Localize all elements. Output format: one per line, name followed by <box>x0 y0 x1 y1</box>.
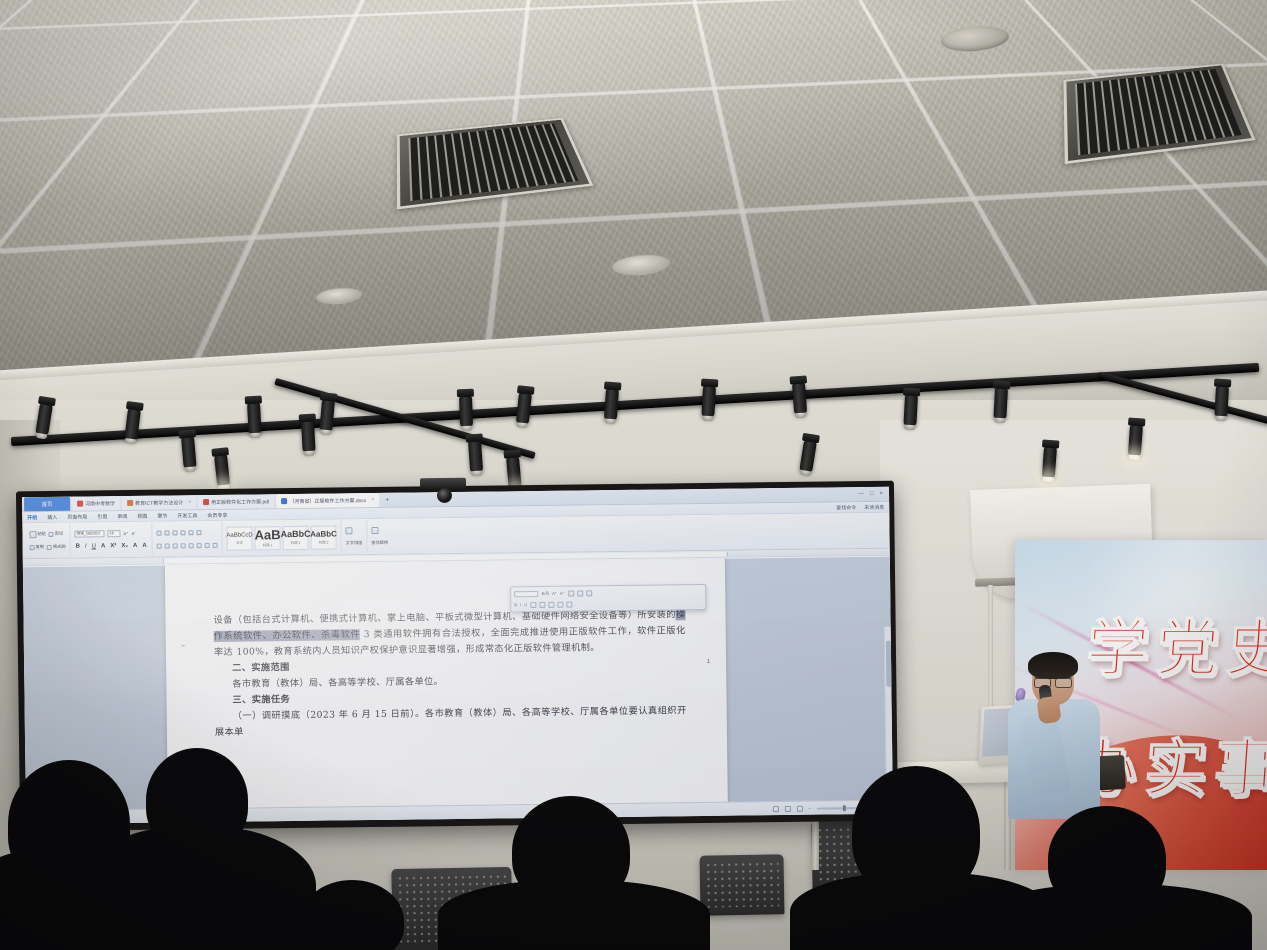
ribbon-group-styles: AaBbCcD 正文 AaB 标题 1 AaBbC 标题 2 AaBbC <box>222 520 341 554</box>
align-right-icon[interactable] <box>173 543 178 548</box>
zoom-slider-knob[interactable] <box>843 805 846 811</box>
ribbon-group-clipboard: 粘贴 剪切 复制 <box>25 524 70 558</box>
strikethrough-button[interactable]: A <box>100 543 106 549</box>
scrollbar-thumb[interactable] <box>886 641 892 687</box>
style-name: 标题 3 <box>319 539 329 544</box>
ppt-icon <box>127 500 133 506</box>
unread-messages-label[interactable]: 未读消息 <box>864 503 884 510</box>
banner-line-1: 学党史 <box>1084 598 1267 688</box>
page-number-mark: 1 <box>707 659 710 665</box>
ribbon-tab-view[interactable]: 视图 <box>137 512 147 519</box>
line-spacing-icon[interactable] <box>197 543 202 548</box>
text-segment: 设备（包括台式计算机、便携式计算机、掌上电脑、平板式微型计算机、基础硬件网络安全… <box>213 609 676 626</box>
document-tab-2[interactable]: 教育ICT教学方法设计 × <box>122 495 196 510</box>
presenter-hand <box>1036 696 1061 725</box>
minimize-icon[interactable]: — <box>858 491 864 497</box>
mini-font-size[interactable]: 五号 <box>541 590 549 596</box>
document-text-body[interactable]: 设备（包括台式计算机、便携式计算机、掌上电脑、平板式微型计算机、基础硬件网络安全… <box>213 607 687 741</box>
spotlight-icon <box>468 441 483 474</box>
spotlight-icon <box>1128 425 1143 458</box>
doc-icon <box>281 498 287 504</box>
ribbon-tab-section[interactable]: 章节 <box>157 512 167 519</box>
style-preview: AaBbCcD <box>226 532 252 538</box>
align-justify-icon[interactable] <box>181 543 186 548</box>
spotlight-icon <box>604 389 619 422</box>
copy-label: 复制 <box>36 544 44 550</box>
pdf-icon <box>77 501 83 507</box>
margin-mark-left: ⌐ <box>182 643 186 649</box>
conference-room-photo: 学党史 办实事 <box>0 0 1267 950</box>
spotlight-icon <box>459 396 473 428</box>
close-icon[interactable]: × <box>188 499 191 505</box>
spotlight-icon <box>319 399 335 432</box>
style-name: 标题 1 <box>263 542 273 547</box>
bullets-icon[interactable] <box>156 530 161 535</box>
mini-numbering-icon[interactable] <box>586 590 592 596</box>
maximize-icon[interactable]: □ <box>870 491 874 497</box>
increase-indent-icon[interactable] <box>180 530 185 535</box>
ribbon-tab-member[interactable]: 会员专享 <box>207 511 227 518</box>
zoom-out-button[interactable]: − <box>808 806 811 811</box>
tab-label: （河南省）正版软件工作方案.docx <box>289 497 366 505</box>
document-tab-3[interactable]: 用正版软件化工作方案.pdf <box>198 494 275 509</box>
spotlight-icon <box>903 395 918 428</box>
copy-button[interactable]: 复制 <box>30 544 44 550</box>
copy-icon <box>30 545 35 550</box>
cut-button[interactable]: 剪切 <box>49 531 63 537</box>
audience-member-body <box>980 884 1252 950</box>
document-paragraph-1: 设备（包括台式计算机、便携式计算机、掌上电脑、平板式微型计算机、基础硬件网络安全… <box>213 607 686 661</box>
search-command-input[interactable]: 查找命令 <box>836 504 856 511</box>
italic-button[interactable]: I <box>84 544 88 550</box>
cut-label: 剪切 <box>55 531 63 537</box>
spotlight-icon <box>181 436 197 469</box>
underline-button[interactable]: U <box>91 543 97 549</box>
mini-bold-button[interactable]: B <box>514 602 517 607</box>
mini-grow-font[interactable]: A⁺ <box>552 591 557 596</box>
mini-italic-button[interactable]: I <box>520 602 521 607</box>
format-painter-button[interactable]: 格式刷 <box>47 544 66 550</box>
format-painter-icon <box>47 544 52 549</box>
ribbon-tab-page-layout[interactable]: 页面布局 <box>67 513 87 520</box>
align-left-icon[interactable] <box>157 543 162 548</box>
document-page[interactable]: ⌐ 1 设备（包括台式计算机、便携式计算机、掌上电脑、平板式微型计算机、基础硬件… <box>165 557 729 811</box>
superscript-button[interactable]: X² <box>109 543 117 549</box>
find-replace-button[interactable]: 查找替换 <box>371 540 388 546</box>
spotlight-icon <box>1042 447 1057 480</box>
style-normal[interactable]: AaBbCcD 正文 <box>226 526 252 550</box>
ribbon-group-paragraph <box>152 522 222 556</box>
ribbon-group-font: 仿宋_GB2312 16 A⁺ A⁻ B I U A X² X₂ A <box>70 523 152 557</box>
search-icon[interactable] <box>371 526 378 533</box>
audience-member-body <box>78 826 316 950</box>
font-size-input[interactable]: 16 <box>107 530 120 537</box>
mini-bullets-icon[interactable] <box>577 590 583 596</box>
menubar-right-group: 查找命令 未读消息 <box>836 503 884 511</box>
pdf-icon <box>203 499 209 505</box>
bold-button[interactable]: B <box>75 544 81 550</box>
ribbon-tab-insert[interactable]: 插入 <box>47 513 57 520</box>
text-highlight-button[interactable]: A <box>132 543 138 549</box>
webcam-lens-icon <box>437 488 452 503</box>
borders-icon[interactable] <box>213 542 218 547</box>
ribbon-group-editing: 查找替换 <box>367 520 392 553</box>
chair <box>699 854 784 915</box>
subscript-button[interactable]: X₂ <box>120 543 129 549</box>
decrease-indent-icon[interactable] <box>172 530 177 535</box>
vertical-scrollbar[interactable] <box>884 627 893 786</box>
outline-view-icon[interactable] <box>784 805 790 811</box>
mini-format-painter-icon[interactable] <box>566 601 572 607</box>
style-preview: AaBbC <box>280 530 310 539</box>
sort-icon[interactable] <box>188 530 193 535</box>
style-heading-2[interactable]: AaBbC 标题 2 <box>282 525 308 549</box>
style-preview: AaBbC <box>310 530 337 538</box>
tab-label: 河南中考数学 <box>85 500 115 507</box>
text-tools-icon[interactable] <box>345 527 352 534</box>
floating-mini-toolbar[interactable]: 五号 A⁺ A⁻ B I U <box>510 584 706 612</box>
close-window-icon[interactable]: × <box>879 491 883 497</box>
paste-button[interactable]: 粘贴 <box>29 531 45 538</box>
ribbon-tab-references[interactable]: 引用 <box>97 513 107 520</box>
document-tab-4-active[interactable]: （河南省）正版软件工作方案.docx × <box>276 493 379 508</box>
shading-icon[interactable] <box>205 543 210 548</box>
font-name-input[interactable]: 仿宋_GB2312 <box>74 530 104 537</box>
mini-shrink-font[interactable]: A⁻ <box>560 591 565 596</box>
style-heading-3[interactable]: AaBbC 标题 3 <box>310 525 336 549</box>
align-distribute-icon[interactable] <box>189 543 194 548</box>
mini-list-icon[interactable] <box>557 601 563 607</box>
tab-label: 用正版软件化工作方案.pdf <box>211 498 269 506</box>
align-center-icon[interactable] <box>165 543 170 548</box>
new-tab-button[interactable]: + <box>379 493 395 507</box>
mini-highlight-icon[interactable] <box>568 590 574 596</box>
spotlight-icon <box>247 403 262 436</box>
mini-toolbar-row-2: B I U <box>514 597 702 609</box>
style-preview: AaB <box>254 528 280 541</box>
tab-label: 教育ICT教学方法设计 <box>135 499 183 507</box>
grow-font-button[interactable]: A⁺ <box>123 531 128 536</box>
ribbon-tab-start[interactable]: 开始 <box>27 514 37 521</box>
spotlight-icon <box>993 388 1008 421</box>
numbering-icon[interactable] <box>164 530 169 535</box>
format-painter-label: 格式刷 <box>53 544 66 550</box>
text-tools-button[interactable]: 文字排版 <box>346 540 363 546</box>
style-heading-1[interactable]: AaB 标题 1 <box>254 526 280 550</box>
mini-align-icon[interactable] <box>548 601 554 607</box>
document-paragraph-3: （一）调研摸底（2023 年 6 月 15 日前）。各市教育（教体）局、各高等学… <box>215 703 687 741</box>
projection-display: 首页 河南中考数学 教育ICT教学方法设计 × 用正版软件化工作方案.pdf <box>16 481 898 832</box>
close-icon[interactable]: × <box>371 497 374 503</box>
font-color-button[interactable]: A <box>141 543 147 549</box>
spotlight-icon <box>792 383 807 416</box>
window-controls: — □ × <box>858 487 889 501</box>
mini-underline-button[interactable]: U <box>524 602 527 607</box>
page-view-icon[interactable] <box>772 806 778 812</box>
show-marks-icon[interactable] <box>196 530 201 535</box>
eyeglasses-icon <box>1034 677 1072 685</box>
ribbon-tab-review[interactable]: 审阅 <box>117 513 127 520</box>
presenter-hair <box>1028 652 1078 679</box>
style-name: 标题 2 <box>291 540 301 545</box>
mini-font-name[interactable] <box>514 591 538 597</box>
ribbon-group-texttools: 文字排版 <box>341 520 367 553</box>
style-name: 正文 <box>236 539 243 544</box>
zoom-slider[interactable] <box>817 807 861 810</box>
reading-view-icon[interactable] <box>796 805 802 811</box>
wps-home-button[interactable]: 首页 <box>24 497 70 512</box>
audience-member-body <box>438 880 710 950</box>
ribbon-tab-developer[interactable]: 开发工具 <box>177 512 197 519</box>
mini-clear-format-icon[interactable] <box>539 601 545 607</box>
shrink-font-button[interactable]: A⁻ <box>131 530 136 535</box>
spotlight-icon <box>701 386 716 419</box>
paste-label: 粘贴 <box>37 531 45 537</box>
scissors-icon <box>49 531 54 536</box>
spotlight-icon <box>301 421 316 454</box>
document-tab-1[interactable]: 河南中考数学 <box>72 496 120 511</box>
spotlight-icon <box>1214 386 1229 419</box>
paste-icon <box>29 531 36 538</box>
mini-font-color-icon[interactable] <box>530 602 536 608</box>
